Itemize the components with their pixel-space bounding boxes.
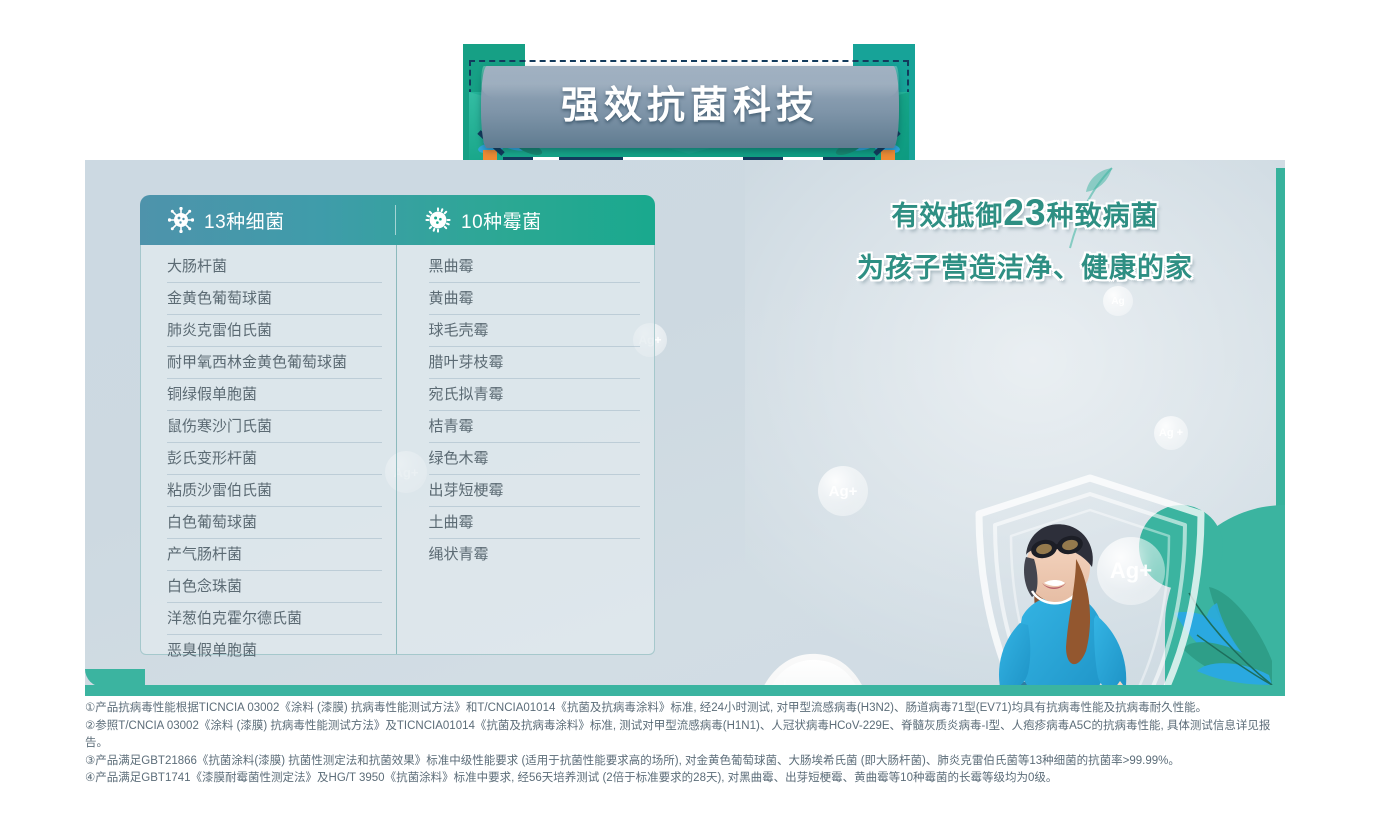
header-label-mold: 10种霉菌 [461,207,542,234]
list-item: 白色葡萄球菌 [167,507,382,539]
list-item: 黑曲霉 [429,251,641,283]
footnote-1: ①产品抗病毒性能根据TICNCIA 03002《涂料 (漆膜) 抗病毒性能测试方… [85,700,1285,718]
list-item: 恶臭假单胞菌 [167,635,382,666]
list-item: 宛氏拟青霉 [429,379,641,411]
bacteria-column: 大肠杆菌 金黄色葡萄球菌 肺炎克雷伯氏菌 耐甲氧西林金黄色葡萄球菌 铜绿假单胞菌… [141,245,396,654]
headline-line-1: 有效抵御23种致病菌 [805,192,1245,234]
germ-table-body: 大肠杆菌 金黄色葡萄球菌 肺炎克雷伯氏菌 耐甲氧西林金黄色葡萄球菌 铜绿假单胞菌… [140,245,655,655]
bubble-ag-6: Ag+ [1097,537,1165,605]
header-label-bacteria: 13种细菌 [204,207,285,234]
headline: 有效抵御23种致病菌 为孩子营造洁净、健康的家 [805,192,1245,285]
child-photo [970,505,1195,685]
bubble-label: Ag + [1159,427,1183,439]
mold-column: 黑曲霉 黄曲霉 球毛壳霉 腊叶芽枝霉 宛氏拟青霉 桔青霉 绿色木霉 出芽短梗霉 … [396,245,655,654]
list-item: 耐甲氧西林金黄色葡萄球菌 [167,347,382,379]
poster-stage: 强效抗菌科技 [0,0,1378,830]
list-item: 肺炎克雷伯氏菌 [167,315,382,347]
list-item: 金黄色葡萄球菌 [167,283,382,315]
bubble-label: Ag [1111,296,1124,307]
bubble-ag-2: Ag + [1154,416,1188,450]
list-item: 彭氏变形杆菌 [167,443,382,475]
bubble-label: Ag+ [829,483,858,500]
list-item: 黄曲霉 [429,283,641,315]
headline-line-2: 为孩子营造洁净、健康的家 [805,246,1245,285]
list-item: 腊叶芽枝霉 [429,347,641,379]
list-item: 土曲霉 [429,507,641,539]
bubble-ag-1: Ag [1103,286,1133,316]
headline-number: 23 [1003,192,1046,233]
germ-table-card: 13种细菌 [140,195,655,655]
dog-photo [725,640,920,685]
virus-icon [168,207,194,233]
list-item: 粘质沙雷伯氏菌 [167,475,382,507]
footnote-2: ②参照T/CNCIA 03002《涂料 (漆膜) 抗病毒性能测试方法》及TICN… [85,718,1285,753]
header-divider [395,205,396,235]
list-item: 白色念珠菌 [167,571,382,603]
main-panel: Ag Ag + Ag+ Ag+ Ag+ Ag+ 有效抵御23种致病菌 为孩子营造… [85,160,1285,685]
banner-ribbon-plate: 强效抗菌科技 [481,66,899,148]
banner: 强效抗菌科技 [463,44,915,166]
footnotes: ①产品抗病毒性能根据TICNCIA 03002《涂料 (漆膜) 抗病毒性能测试方… [85,700,1285,788]
list-item: 绿色木霉 [429,443,641,475]
mold-spore-icon [425,207,451,233]
list-item: 鼠伤寒沙门氏菌 [167,411,382,443]
bubble-ag-5: Ag+ [818,466,868,516]
list-item: 球毛壳霉 [429,315,641,347]
bubble-label: Ag+ [1110,558,1152,584]
list-item: 大肠杆菌 [167,251,382,283]
banner-title: 强效抗菌科技 [481,66,899,148]
header-cell-mold: 10种霉菌 [395,207,655,234]
headline-prefix: 有效抵御 [891,201,1003,231]
footnote-3: ③产品满足GBT21866《抗菌涂料(漆膜) 抗菌性测定法和抗菌效果》标准中级性… [85,753,1285,771]
headline-suffix: 种致病菌 [1047,201,1159,231]
header-cell-bacteria: 13种细菌 [140,207,395,234]
germ-table-header: 13种细菌 [140,195,655,245]
footnote-4: ④产品满足GBT1741《漆膜耐霉菌性测定法》及HG/T 3950《抗菌涂料》标… [85,770,1285,788]
list-item: 铜绿假单胞菌 [167,379,382,411]
panel-bottom-hook [85,669,145,687]
list-item: 出芽短梗霉 [429,475,641,507]
list-item: 洋葱伯克霍尔德氏菌 [167,603,382,635]
list-item: 绳状青霉 [429,539,641,570]
list-item: 桔青霉 [429,411,641,443]
list-item: 产气肠杆菌 [167,539,382,571]
panel-bottom-bar [85,685,1285,696]
